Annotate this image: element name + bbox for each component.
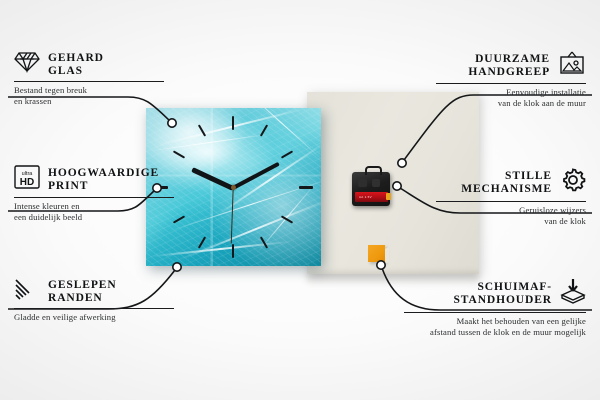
- svg-text:HD: HD: [20, 177, 34, 188]
- foam-spacer-icon: [560, 278, 586, 309]
- diamond-icon: [14, 51, 40, 78]
- feature-title-line1: STILLE: [461, 170, 552, 183]
- movement-hanger: [365, 166, 382, 175]
- beveled-edges-icon: [14, 278, 40, 305]
- ultra-hd-icon: ultra HD: [14, 165, 40, 194]
- tick-6: [232, 244, 234, 258]
- hanging-picture-icon: [558, 51, 586, 80]
- feature-divider: [436, 83, 586, 84]
- feature-divider: [14, 81, 164, 82]
- feature-title-line2: PRINT: [48, 180, 159, 193]
- feature-sub-line2: van de klok aan de muur: [436, 98, 586, 109]
- feature-title-line1: GESLEPEN: [48, 279, 117, 292]
- feature-sub-line1: Geruisloze wijzers: [436, 205, 586, 216]
- feature-divider: [14, 308, 174, 309]
- feature-sub-line1: Gladde en veilige afwerking: [14, 312, 174, 323]
- feature-sub-line2: en krassen: [14, 96, 164, 107]
- feature-sub-line2: van de klok: [436, 216, 586, 227]
- feature-sub-line1: Intense kleuren en: [14, 201, 174, 212]
- hands-center-pin: [231, 185, 236, 190]
- feature-divider: [14, 197, 174, 198]
- feature-title-line2: GLAS: [48, 65, 104, 78]
- feature-stille-mechanisme: STILLE MECHANISME Geruisloze wijzers van…: [436, 167, 586, 226]
- battery-plus-terminal: [386, 193, 391, 200]
- gear-icon: [560, 167, 586, 198]
- clock-movement-module: AA 1.5V: [352, 172, 390, 206]
- tick-3: [299, 186, 313, 189]
- feature-title-line2: HANDGREEP: [468, 66, 550, 79]
- feature-sub-line2: een duidelijk beeld: [14, 212, 174, 223]
- product-feature-infographic: AA 1.5V: [0, 0, 600, 400]
- feature-title-line1: HOOGWAARDIGE: [48, 167, 159, 180]
- feature-hoogwaardige-print: ultra HD HOOGWAARDIGE PRINT Intense kleu…: [14, 165, 174, 222]
- feature-sub-line1: Maakt het behouden van een gelijke: [404, 316, 586, 327]
- aa-battery: AA 1.5V: [355, 192, 388, 202]
- battery-label: AA 1.5V: [359, 195, 372, 199]
- feature-schuimafstandhouder: SCHUIMAF- STANDHOUDER Maakt het behouden…: [404, 278, 586, 337]
- movement-knob-right: [372, 179, 380, 187]
- feature-title-line2: RANDEN: [48, 292, 117, 305]
- feature-title-line1: DUURZAME: [468, 53, 550, 66]
- feature-sub-line1: Eenvoudige installatie: [436, 87, 586, 98]
- foam-spacer-block: [368, 245, 385, 262]
- feature-duurzame-handgreep: DUURZAME HANDGREEP Eenvoudige installati…: [436, 51, 586, 108]
- feature-title-line2: STANDHOUDER: [453, 294, 552, 307]
- feature-sub-line1: Bestand tegen breuk: [14, 85, 164, 96]
- feature-title-line1: GEHARD: [48, 52, 104, 65]
- feature-title-line1: SCHUIMAF-: [453, 281, 552, 294]
- feature-divider: [404, 312, 586, 313]
- tick-12: [232, 116, 234, 130]
- movement-knob-left: [358, 179, 367, 187]
- feature-title-line2: MECHANISME: [461, 183, 552, 196]
- feature-geslepen-randen: GESLEPEN RANDEN Gladde en veilige afwerk…: [14, 278, 174, 323]
- feature-gehard-glas: GEHARD GLAS Bestand tegen breuk en krass…: [14, 51, 164, 106]
- feature-divider: [436, 201, 586, 202]
- feature-sub-line2: afstand tussen de klok en de muur mogeli…: [404, 327, 586, 338]
